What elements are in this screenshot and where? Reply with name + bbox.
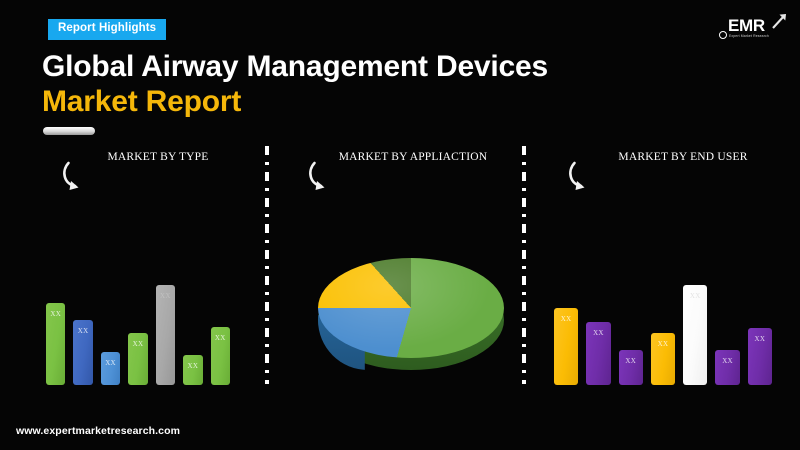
bar-value-label: XX xyxy=(50,310,61,318)
logo-wordmark: EMR xyxy=(728,17,765,34)
section-market-by-application: MARKET BY APPLIACTION xyxy=(274,145,510,385)
title-underline-rule xyxy=(43,127,95,135)
report-highlights-badge: Report Highlights xyxy=(48,19,166,40)
pie-slices xyxy=(318,258,504,358)
bar-value-label: XX xyxy=(78,327,89,335)
bar-item: XX xyxy=(211,327,230,385)
bar-value-label: XX xyxy=(658,340,669,348)
bar-chart-market-by-end-user: XX XX XX XX XX XX XX xyxy=(536,245,788,385)
bar-item: XX xyxy=(586,322,610,385)
bar-item: XX xyxy=(156,285,175,385)
bar-item: XX xyxy=(128,333,147,385)
section-title-market-by-application: MARKET BY APPLIACTION xyxy=(274,151,510,163)
bar-value-label: XX xyxy=(722,357,733,365)
section-divider-1 xyxy=(265,146,269,384)
bar-item: XX xyxy=(619,350,643,385)
bar-item: XX xyxy=(101,352,120,385)
section-divider-2 xyxy=(522,146,526,384)
bar-item: XX xyxy=(554,308,578,385)
bar-item: XX xyxy=(46,303,65,385)
bar-value-label: XX xyxy=(160,292,171,300)
bar-item: XX xyxy=(73,320,92,385)
section-market-by-type: MARKET BY TYPE XX XX XX XX XX XX XX xyxy=(14,145,260,385)
bar-value-label: XX xyxy=(625,357,636,365)
curved-arrow-icon xyxy=(62,157,96,198)
bar-value-label: XX xyxy=(187,362,198,370)
bar-item: XX xyxy=(183,355,202,385)
section-title-market-by-end-user: MARKET BY END USER xyxy=(536,151,788,163)
curved-arrow-icon xyxy=(308,157,342,198)
bar-value-label: XX xyxy=(105,359,116,367)
bar-value-label: XX xyxy=(215,334,226,342)
bar-item: XX xyxy=(651,333,675,385)
footer-website-url[interactable]: www.expertmarketresearch.com xyxy=(16,425,180,437)
bar-item: XX xyxy=(715,350,739,385)
page-title-line1: Global Airway Management Devices xyxy=(42,50,548,85)
section-title-market-by-type: MARKET BY TYPE xyxy=(14,151,260,163)
logo-tagline: Expert Market Research xyxy=(729,34,769,38)
bar-item: XX xyxy=(683,285,707,385)
bar-value-label: XX xyxy=(593,329,604,337)
bar-item: XX xyxy=(748,328,772,385)
logo-circle-icon xyxy=(719,31,727,39)
page-title-line2: Market Report xyxy=(42,85,241,120)
bar-chart-market-by-type: XX XX XX XX XX XX XX xyxy=(14,245,260,385)
curved-arrow-icon xyxy=(568,157,602,198)
emr-logo: EMR Expert Market Research xyxy=(716,12,790,46)
bar-value-label: XX xyxy=(690,292,701,300)
bar-value-label: XX xyxy=(133,340,144,348)
growth-arrow-icon xyxy=(771,12,789,35)
bar-value-label: XX xyxy=(754,335,765,343)
bar-value-label: XX xyxy=(561,315,572,323)
pie-chart-market-by-application xyxy=(314,252,504,367)
section-market-by-end-user: MARKET BY END USER XX XX XX XX XX XX XX xyxy=(536,145,788,385)
